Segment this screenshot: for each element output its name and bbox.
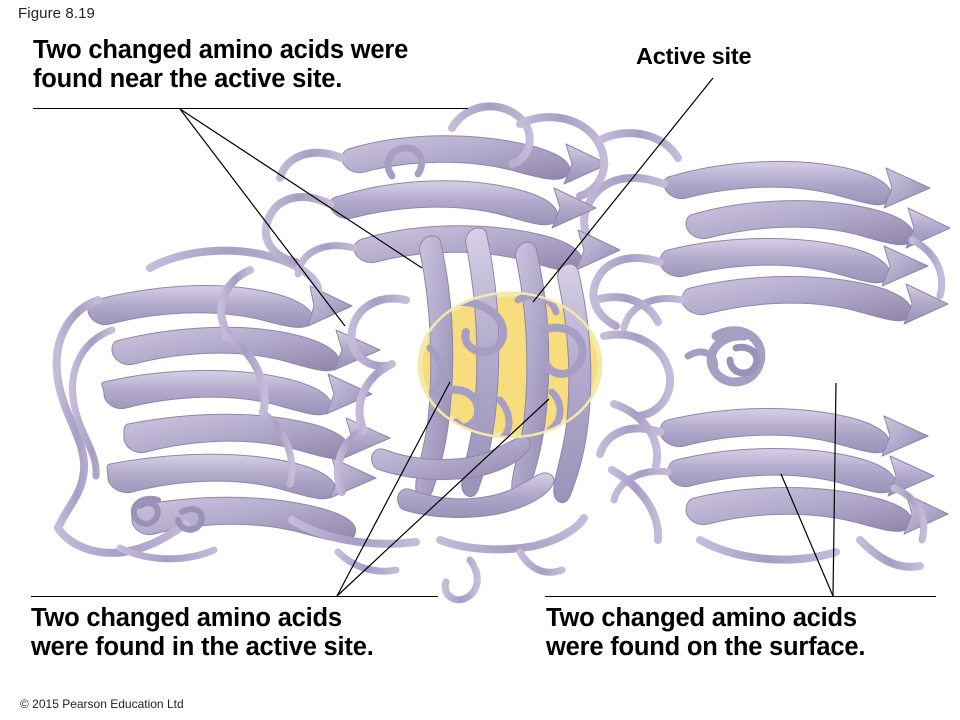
callout-active-site: Active site [636,43,896,70]
copyright-notice: © 2015 Pearson Education Ltd [20,697,184,711]
callout-rule-bottom-right [545,596,936,597]
callout-bottom-left: Two changed amino acids were found in th… [31,604,461,662]
callout-bottom-right-text: Two changed amino acids were found on th… [546,604,946,662]
callout-top-left: Two changed amino acids were found near … [33,36,503,94]
callout-rule-top-left [33,108,468,109]
callout-active-site-text: Active site [636,43,896,70]
callout-bottom-left-text: Two changed amino acids were found in th… [31,604,461,662]
callout-top-left-text: Two changed amino acids were found near … [33,36,503,94]
callout-rule-bottom-left [31,596,438,597]
callout-bottom-right: Two changed amino acids were found on th… [546,604,946,662]
ribbon-domain-right [584,161,950,566]
figure-page: Figure 8.19 [0,0,960,720]
